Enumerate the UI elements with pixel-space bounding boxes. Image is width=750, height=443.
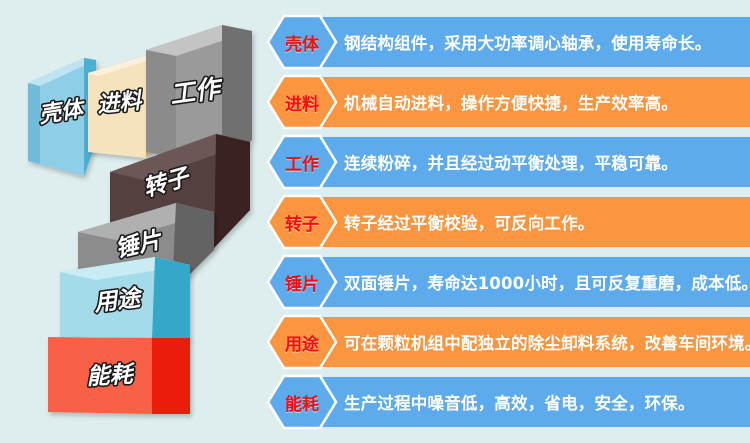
feature-row-4[interactable]: 转子 转子经过平衡校验，可反向工作。 — [0, 192, 750, 252]
feature-desc-3: 连续粉碎，并且经过动平衡处理，平稳可靠。 — [344, 132, 744, 192]
feature-desc-6: 可在颗粒机组中配独立的除尘卸料系统，改善车间环境。 — [344, 312, 744, 372]
hex-badge-2 — [266, 72, 338, 132]
feature-list: 壳体 钢结构组件，采用大功率调心轴承，使用寿命长。 进料 机械自动进料，操作方便… — [0, 0, 750, 443]
feature-desc-1: 钢结构组件，采用大功率调心轴承，使用寿命长。 — [344, 12, 744, 72]
hex-badge-7 — [266, 372, 338, 432]
hex-badge-3 — [266, 132, 338, 192]
feature-row-5[interactable]: 锤片 双面锤片，寿命达1000小时，且可反复重磨，成本低。 — [0, 252, 750, 312]
infographic-canvas: 壳体 进料 工作 转子 — [0, 0, 750, 443]
feature-desc-5: 双面锤片，寿命达1000小时，且可反复重磨，成本低。 — [344, 252, 744, 312]
feature-row-2[interactable]: 进料 机械自动进料，操作方便快捷，生产效率高。 — [0, 72, 750, 132]
feature-desc-2: 机械自动进料，操作方便快捷，生产效率高。 — [344, 72, 744, 132]
hex-badge-1 — [266, 12, 338, 72]
feature-row-6[interactable]: 用途 可在颗粒机组中配独立的除尘卸料系统，改善车间环境。 — [0, 312, 750, 372]
feature-row-7[interactable]: 能耗 生产过程中噪音低，高效，省电，安全，环保。 — [0, 372, 750, 432]
feature-desc-4: 转子经过平衡校验，可反向工作。 — [344, 192, 744, 252]
hex-badge-6 — [266, 312, 338, 372]
feature-desc-7: 生产过程中噪音低，高效，省电，安全，环保。 — [344, 372, 744, 432]
hex-badge-5 — [266, 252, 338, 312]
hex-badge-4 — [266, 192, 338, 252]
feature-row-3[interactable]: 工作 连续粉碎，并且经过动平衡处理，平稳可靠。 — [0, 132, 750, 192]
feature-row-1[interactable]: 壳体 钢结构组件，采用大功率调心轴承，使用寿命长。 — [0, 12, 750, 72]
